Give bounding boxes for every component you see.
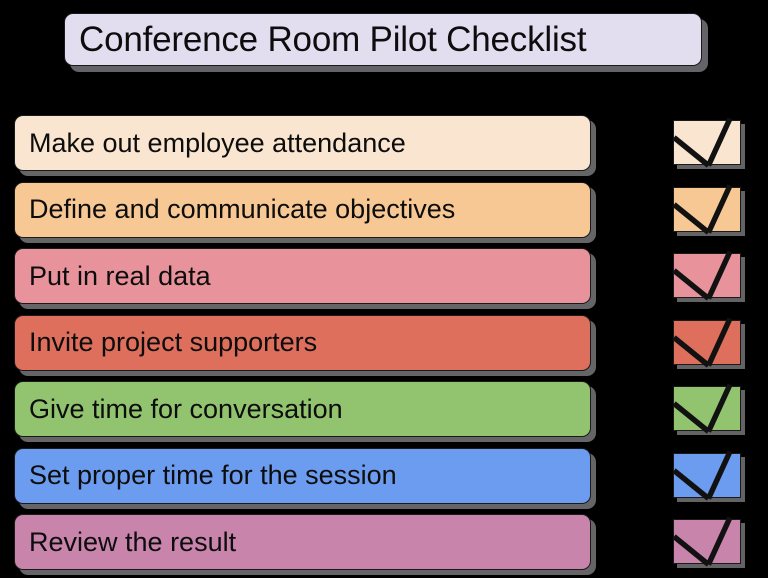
checklist-row-text: Invite project supporters	[15, 329, 317, 356]
checklist-row-1[interactable]: Make out employee attendance	[0, 112, 768, 179]
checklist-canvas: Conference Room Pilot Checklist Make out…	[0, 0, 768, 576]
checkbox-3[interactable]	[673, 253, 741, 298]
page-title: Conference Room Pilot Checklist	[65, 22, 586, 57]
checklist-row-label-7[interactable]: Review the result	[14, 514, 591, 570]
checklist-row-2[interactable]: Define and communicate objectives	[0, 179, 768, 246]
checklist-row-label-3[interactable]: Put in real data	[14, 248, 591, 304]
checklist-row-label-6[interactable]: Set proper time for the session	[14, 448, 591, 504]
checkmark-icon	[664, 109, 756, 179]
checkmark-icon	[664, 176, 756, 246]
checkbox-5[interactable]	[673, 386, 741, 431]
checklist-row-label-5[interactable]: Give time for conversation	[14, 381, 591, 437]
checklist-row-3[interactable]: Put in real data	[0, 245, 768, 312]
checkmark-icon	[664, 242, 756, 312]
checklist-row-5[interactable]: Give time for conversation	[0, 378, 768, 445]
checkbox-7[interactable]	[673, 519, 741, 564]
checkmark-icon	[664, 508, 756, 578]
checkmark-icon	[664, 442, 756, 512]
checklist-row-7[interactable]: Review the result	[0, 511, 768, 578]
checklist-row-label-4[interactable]: Invite project supporters	[14, 315, 591, 371]
checklist-row-label-2[interactable]: Define and communicate objectives	[14, 182, 591, 238]
checkbox-4[interactable]	[673, 320, 741, 365]
checkbox-2[interactable]	[673, 187, 741, 232]
checklist-row-text: Make out employee attendance	[15, 130, 406, 157]
checklist-row-text: Set proper time for the session	[15, 462, 397, 489]
checklist-row-text: Define and communicate objectives	[15, 196, 455, 223]
checklist-row-6[interactable]: Set proper time for the session	[0, 445, 768, 512]
checkbox-6[interactable]	[673, 453, 741, 498]
checkmark-icon	[664, 309, 756, 379]
checklist-row-text: Put in real data	[15, 263, 211, 290]
checklist-row-text: Review the result	[15, 529, 236, 556]
checklist-row-4[interactable]: Invite project supporters	[0, 312, 768, 379]
checklist-rows: Make out employee attendance Define and …	[0, 112, 768, 578]
checkmark-icon	[664, 375, 756, 445]
checkbox-1[interactable]	[673, 120, 741, 165]
checklist-row-text: Give time for conversation	[15, 396, 343, 423]
page-title-box: Conference Room Pilot Checklist	[64, 13, 702, 66]
checklist-row-label-1[interactable]: Make out employee attendance	[14, 115, 591, 171]
